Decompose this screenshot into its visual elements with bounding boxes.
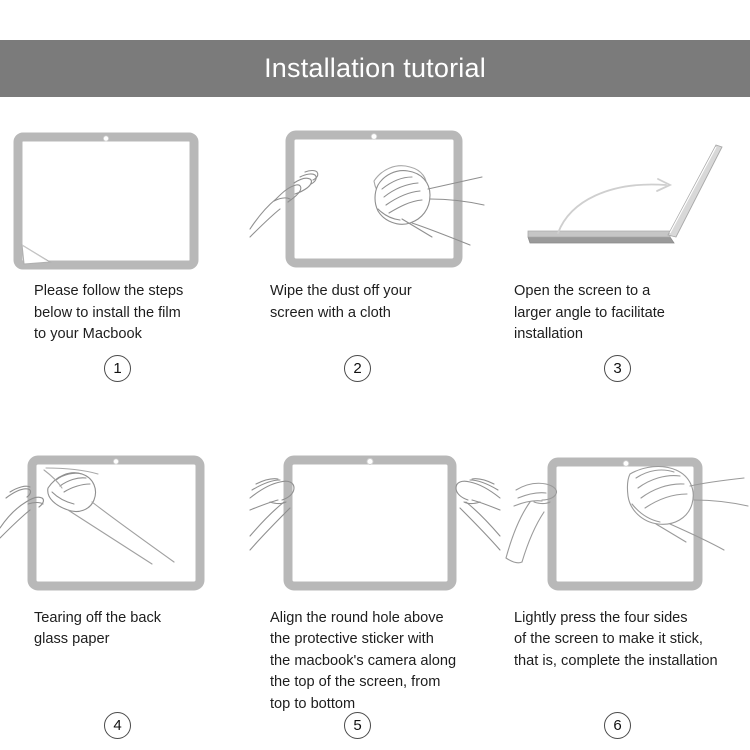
camera-dot-icon xyxy=(623,460,629,466)
tutorial-page: Installation tutorial Please follow the … xyxy=(0,0,750,750)
illustration-hand-pressing-screen-edges xyxy=(500,446,750,596)
right-hand-icon xyxy=(456,478,500,549)
step-number-badge: 5 xyxy=(344,712,371,739)
step-number-badge: 3 xyxy=(604,355,631,382)
open-direction-arrow-icon xyxy=(558,179,670,233)
laptop-base xyxy=(528,231,674,243)
step-badge-row: 6 xyxy=(500,712,750,739)
left-hand-icon xyxy=(0,486,43,538)
steps-grid: Please follow the steps below to install… xyxy=(0,97,750,750)
step-caption: Tearing off the back glass paper xyxy=(0,608,250,651)
step-number-badge: 6 xyxy=(604,712,631,739)
camera-dot-icon xyxy=(103,136,108,141)
step-number-badge: 2 xyxy=(344,355,371,382)
step-caption: Align the round hole above the protectiv… xyxy=(250,608,500,716)
step-number-badge: 4 xyxy=(104,712,131,739)
step-card-1: Please follow the steps below to install… xyxy=(0,97,250,424)
step-caption: Please follow the steps below to install… xyxy=(0,281,250,346)
camera-dot-icon xyxy=(113,458,118,463)
header-band: Installation tutorial xyxy=(0,40,750,97)
step-card-4: Tearing off the back glass paper 4 xyxy=(0,424,250,750)
step-caption: Open the screen to a larger angle to fac… xyxy=(500,281,750,346)
illustration-two-hands-aligning-film xyxy=(250,446,500,596)
illustration-hand-wiping-screen-with-cloth xyxy=(250,119,500,269)
step-card-3: Open the screen to a larger angle to fac… xyxy=(500,97,750,424)
screen-surface xyxy=(295,466,446,579)
illustration-hand-tearing-back-paper xyxy=(0,446,250,596)
step-caption: Wipe the dust off your screen with a clo… xyxy=(250,281,500,324)
step-card-2: Wipe the dust off your screen with a clo… xyxy=(250,97,500,424)
step-card-6: Lightly press the four sides of the scre… xyxy=(500,424,750,750)
page-title: Installation tutorial xyxy=(264,53,486,84)
step-card-5: Align the round hole above the protectiv… xyxy=(250,424,500,750)
step-badge-row: 3 xyxy=(500,355,750,382)
step-number-badge: 1 xyxy=(104,355,131,382)
step-caption: Lightly press the four sides of the scre… xyxy=(500,608,750,673)
illustration-laptop-opening-angle-arrow xyxy=(500,119,750,269)
camera-dot-icon xyxy=(371,134,377,140)
laptop-lid xyxy=(668,145,722,237)
illustration-tablet-with-peeling-corner xyxy=(0,119,250,269)
camera-dot-icon xyxy=(367,458,373,464)
screen-surface xyxy=(25,144,188,259)
